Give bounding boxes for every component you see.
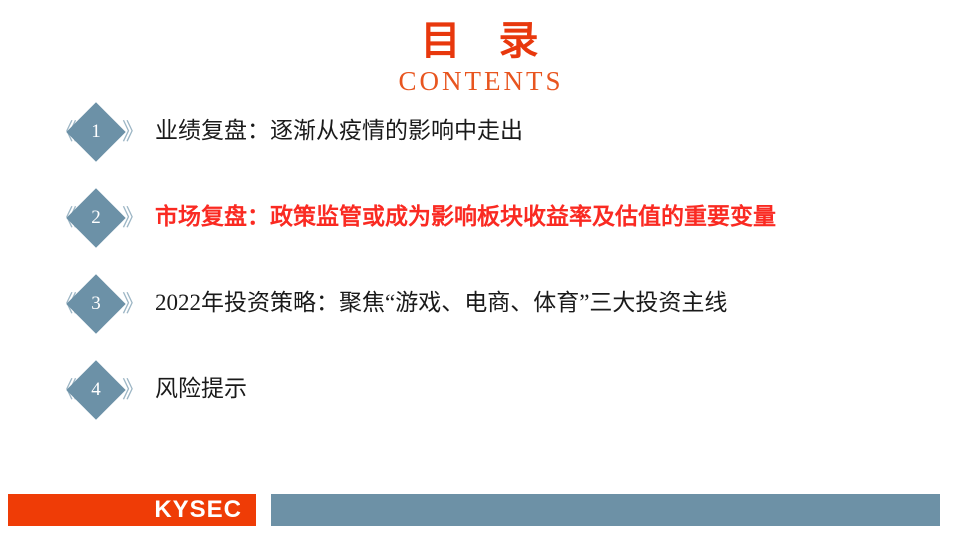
page-title-en: CONTENTS	[0, 65, 959, 97]
list-item[interactable]: 《 2 》 市场复盘：政策监管或成为影响板块收益率及估值的重要变量	[0, 190, 959, 276]
chevron-right-icon: 》	[122, 117, 145, 147]
brand-logo: KYSEC	[8, 494, 256, 526]
slide-title-block: 目 录 CONTENTS	[0, 18, 959, 97]
item-marker-2: 《 2 》	[52, 190, 142, 262]
chevron-right-icon: 》	[122, 375, 145, 405]
item-number: 2	[75, 197, 117, 239]
chevron-right-icon: 》	[122, 289, 145, 319]
item-number: 3	[75, 283, 117, 325]
page-title-cn: 目 录	[0, 18, 959, 64]
item-label[interactable]: 风险提示	[155, 372, 247, 406]
brand-logo-text: KYSEC	[154, 494, 242, 526]
item-label[interactable]: 2022年投资策略：聚焦“游戏、电商、体育”三大投资主线	[155, 286, 727, 320]
item-number: 1	[75, 111, 117, 153]
footer-accent-bar	[271, 494, 940, 526]
list-item[interactable]: 《 4 》 风险提示	[0, 362, 959, 448]
item-marker-4: 《 4 》	[52, 362, 142, 434]
item-number: 4	[75, 369, 117, 411]
chevron-right-icon: 》	[122, 203, 145, 233]
item-marker-3: 《 3 》	[52, 276, 142, 348]
slide-footer: KYSEC	[0, 494, 959, 526]
item-label[interactable]: 市场复盘：政策监管或成为影响板块收益率及估值的重要变量	[155, 200, 776, 234]
item-marker-1: 《 1 》	[52, 104, 142, 176]
contents-list: 《 1 》 业绩复盘：逐渐从疫情的影响中走出 《 2 》 市场复盘：政策监管或成…	[0, 104, 959, 448]
list-item[interactable]: 《 3 》 2022年投资策略：聚焦“游戏、电商、体育”三大投资主线	[0, 276, 959, 362]
list-item[interactable]: 《 1 》 业绩复盘：逐渐从疫情的影响中走出	[0, 104, 959, 190]
slide-canvas: 目 录 CONTENTS 《 1 》 业绩复盘：逐渐从疫情的影响中走出 《 2 …	[0, 0, 959, 539]
item-label[interactable]: 业绩复盘：逐渐从疫情的影响中走出	[155, 114, 523, 148]
